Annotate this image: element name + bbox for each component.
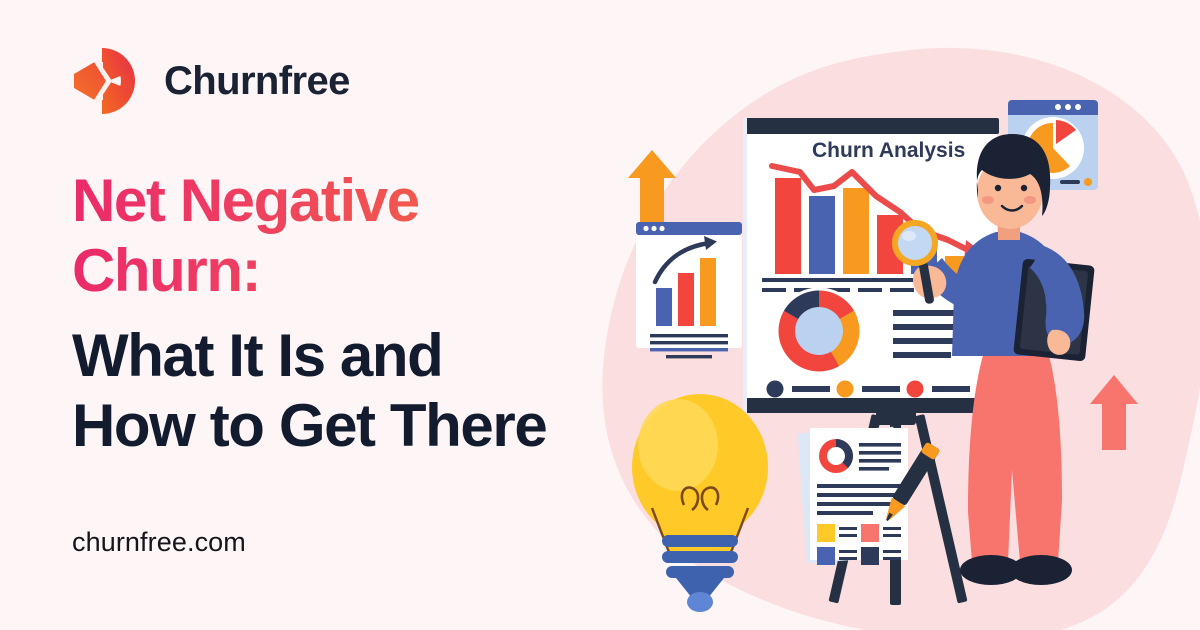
- brand-wordmark: Churnfree: [164, 61, 350, 101]
- idea-lightbulb-icon: [632, 394, 768, 612]
- churnfree-chevron-circle-logo-icon: [72, 44, 146, 118]
- board-chart-title: Churn Analysis: [812, 139, 965, 162]
- site-url[interactable]: churnfree.com: [72, 527, 246, 558]
- text-column: Churnfree Net Negative Churn: What It Is…: [72, 0, 612, 630]
- growth-bars-card: [636, 222, 742, 358]
- illustration: Churn Analysis: [600, 0, 1200, 630]
- headline-line-2: Churn:: [72, 236, 632, 306]
- page-title: Net Negative Churn: What It Is and How t…: [72, 166, 632, 460]
- arrow-up-coral-icon: [1090, 375, 1138, 450]
- arrow-up-orange-icon: [628, 150, 676, 222]
- headline-line-3: What It Is and: [72, 321, 632, 391]
- headline-spacer: [72, 305, 632, 321]
- headline-line-4: How to Get There: [72, 391, 632, 461]
- headline-line-1: Net Negative: [72, 166, 632, 236]
- board-donut-chart: [777, 289, 861, 373]
- report-document: [798, 427, 941, 565]
- brand-logo[interactable]: Churnfree: [72, 44, 350, 118]
- poster-canvas: Churnfree Net Negative Churn: What It Is…: [0, 0, 1200, 630]
